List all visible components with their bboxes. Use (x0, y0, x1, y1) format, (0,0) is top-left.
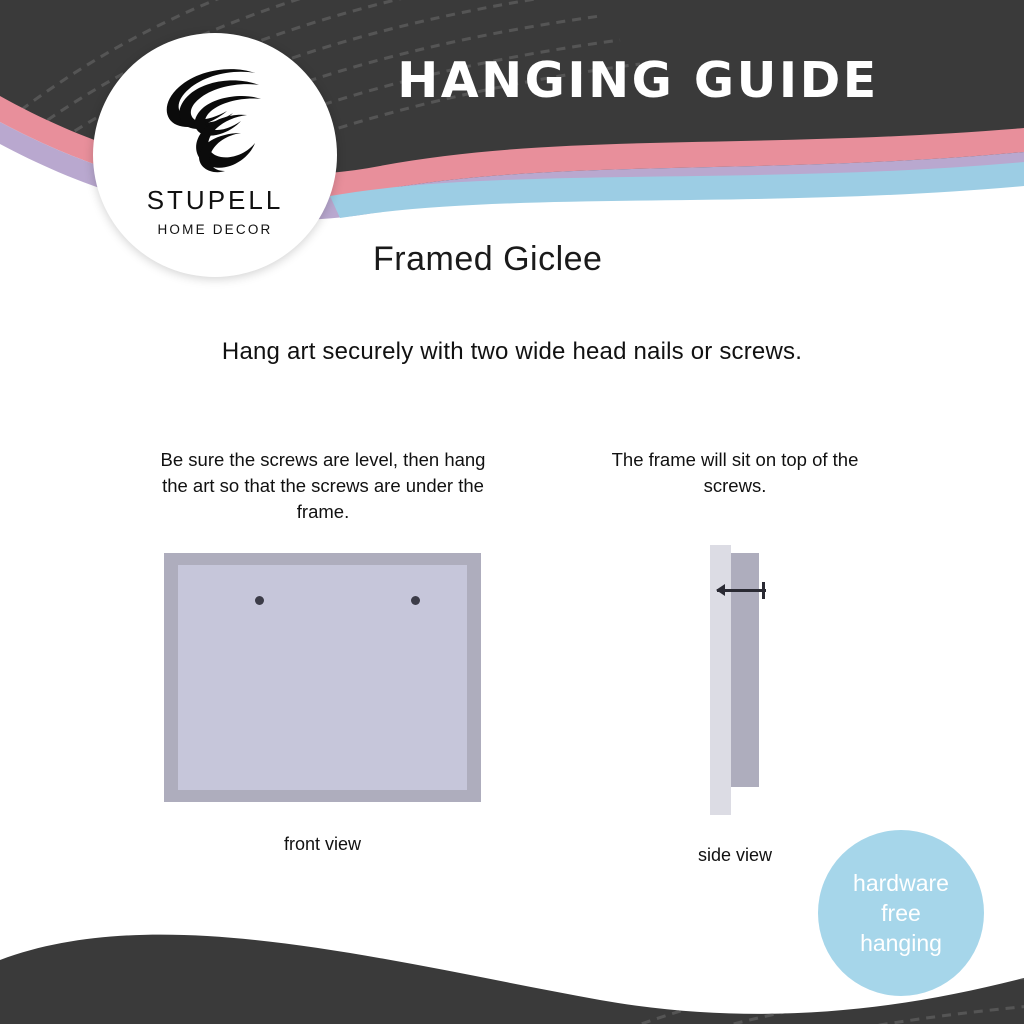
side-view-screw-head-icon (762, 582, 765, 599)
brand-logo-badge: STUPELL HOME DECOR (93, 33, 337, 277)
hardware-free-hanging-badge: hardware free hanging (818, 830, 984, 996)
product-type-label: Framed Giclee (373, 240, 602, 279)
page-title: HANGING GUIDE (378, 52, 898, 109)
side-view-label: side view (625, 845, 845, 866)
screw-dot-left-icon (255, 596, 264, 605)
front-view-caption: Be sure the screws are level, then hang … (158, 447, 488, 525)
badge-line-3: hanging (860, 928, 942, 958)
side-view-caption: The frame will sit on top of the screws. (600, 447, 870, 499)
stupell-swoosh-logo-icon (155, 63, 275, 181)
front-view-mat (178, 565, 467, 790)
front-view-diagram (164, 553, 481, 802)
main-instruction-text: Hang art securely with two wide head nai… (0, 338, 1024, 366)
hanging-guide-page: STUPELL HOME DECOR HANGING GUIDE Framed … (0, 0, 1024, 1024)
brand-name: STUPELL (147, 185, 284, 216)
badge-line-2: free (881, 898, 921, 928)
side-view-arrow-icon (716, 584, 725, 596)
badge-line-1: hardware (853, 868, 949, 898)
side-view-diagram (700, 545, 810, 815)
front-view-label: front view (164, 834, 481, 855)
brand-tagline: HOME DECOR (157, 222, 272, 237)
screw-dot-right-icon (411, 596, 420, 605)
